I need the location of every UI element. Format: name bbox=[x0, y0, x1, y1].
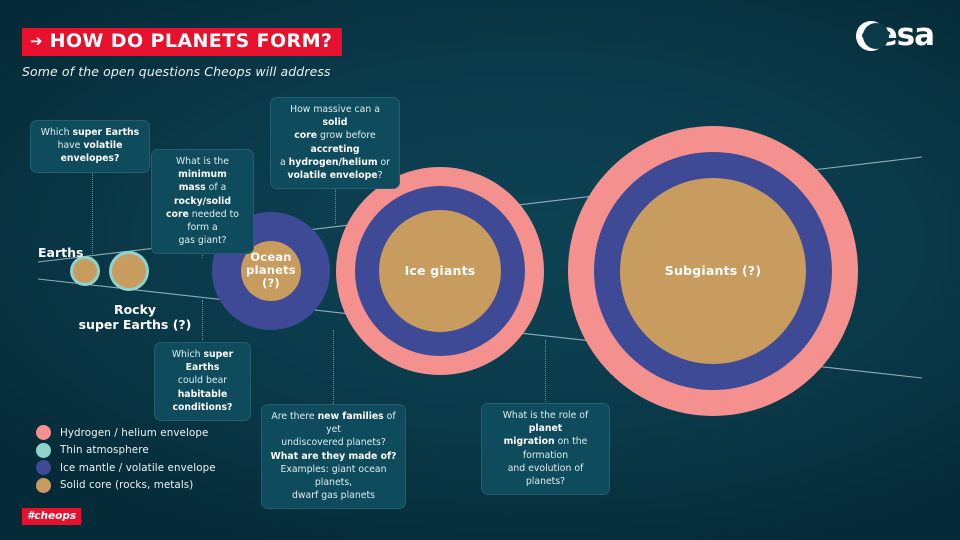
legend-swatch-icon bbox=[36, 443, 51, 458]
callout-minimum-mass[interactable]: What is the minimummass of a rocky/solid… bbox=[151, 149, 254, 254]
legend: Hydrogen / helium envelopeThin atmospher… bbox=[36, 424, 216, 494]
legend-swatch-icon bbox=[36, 478, 51, 493]
legend-item: Thin atmosphere bbox=[36, 442, 216, 460]
callout-planet-migration[interactable]: What is the role of planetmigration on t… bbox=[481, 403, 610, 495]
callout-new-families[interactable]: Are there new families of yetundiscovere… bbox=[261, 404, 406, 509]
legend-item: Ice mantle / volatile envelope bbox=[36, 459, 216, 477]
page-title: HOW DO PLANETS FORM? bbox=[50, 32, 333, 51]
callout-solid-core-accretion[interactable]: How massive can a solidcore grow before … bbox=[270, 97, 400, 189]
planet-label-subgiants: Subgiants (?) bbox=[665, 264, 761, 278]
esa-mark-icon bbox=[856, 21, 886, 51]
connector-habitable-conditions bbox=[202, 300, 203, 340]
rocky-super-earths-solid-core bbox=[112, 254, 146, 288]
planet-subgiants[interactable]: Subgiants (?) bbox=[568, 126, 858, 416]
legend-label: Solid core (rocks, metals) bbox=[60, 479, 193, 491]
legend-item: Hydrogen / helium envelope bbox=[36, 424, 216, 442]
planet-earths[interactable] bbox=[70, 256, 100, 286]
planet-label-ice-giants: Ice giants bbox=[405, 264, 476, 278]
legend-swatch-icon bbox=[36, 460, 51, 475]
page-title-bar: ➔ HOW DO PLANETS FORM? bbox=[22, 28, 342, 56]
callout-habitable-conditions[interactable]: Which super Earthscould bear habitableco… bbox=[154, 342, 251, 421]
planet-label-rocky-super-earths: Rocky super Earths (?) bbox=[65, 302, 205, 332]
planet-label-ocean-planets: Ocean planets (?) bbox=[242, 251, 301, 291]
connector-planet-migration bbox=[545, 340, 546, 402]
legend-label: Ice mantle / volatile envelope bbox=[60, 462, 216, 474]
legend-label: Hydrogen / helium envelope bbox=[60, 427, 208, 439]
planet-rocky-super-earths[interactable] bbox=[109, 251, 149, 291]
planet-ice-giants[interactable]: Ice giants bbox=[336, 167, 544, 375]
callout-volatile-envelopes[interactable]: Which super Earthshave volatile envelope… bbox=[30, 120, 150, 173]
esa-logo: esa bbox=[856, 20, 934, 51]
earths-solid-core bbox=[73, 259, 97, 283]
infographic-canvas: Subgiants (?) Ice giants Ocean planets (… bbox=[0, 0, 960, 540]
legend-label: Thin atmosphere bbox=[60, 444, 149, 456]
connector-new-families bbox=[333, 330, 334, 404]
hashtag-badge: #cheops bbox=[22, 508, 81, 525]
legend-item: Solid core (rocks, metals) bbox=[36, 477, 216, 495]
arrow-icon: ➔ bbox=[30, 34, 43, 49]
planet-label-earths: Earths bbox=[38, 245, 83, 260]
page-subtitle: Some of the open questions Cheops will a… bbox=[22, 64, 331, 79]
legend-swatch-icon bbox=[36, 425, 51, 440]
